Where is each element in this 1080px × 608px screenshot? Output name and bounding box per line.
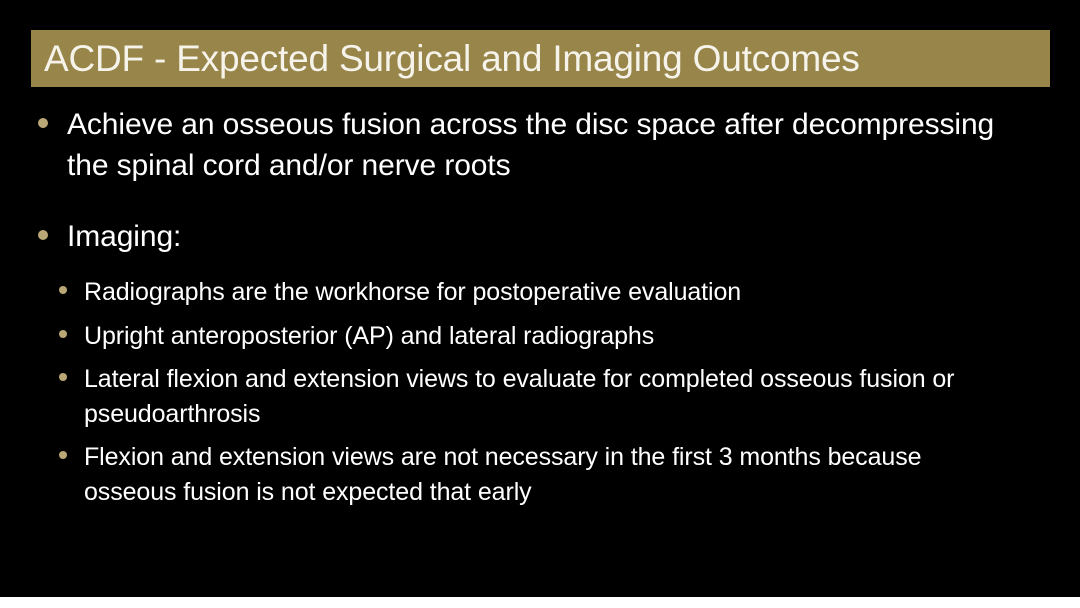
bullet-dot-icon — [38, 118, 48, 128]
bullet-text: Radiographs are the workhorse for postop… — [84, 278, 741, 306]
bullet-dot-icon — [59, 330, 67, 338]
bullet-item-level2: Lateral flexion and extension views to e… — [0, 362, 1080, 431]
presentation-slide: ACDF - Expected Surgical and Imaging Out… — [0, 0, 1080, 608]
bullet-text: Achieve an osseous fusion across the dis… — [67, 108, 994, 182]
bullet-item-level1: Achieve an osseous fusion across the dis… — [0, 104, 1080, 186]
slide-bottom-strip — [0, 597, 1080, 608]
bullet-text: Imaging: — [67, 220, 181, 253]
body-spacer — [0, 198, 1080, 216]
bullet-item-level1: Imaging: — [0, 216, 1080, 257]
bullet-dot-icon — [59, 286, 67, 294]
bullet-dot-icon — [59, 373, 67, 381]
bullet-item-level2: Flexion and extension views are not nece… — [0, 440, 1080, 509]
bullet-text: Lateral flexion and extension views to e… — [84, 365, 954, 428]
bullet-text: Flexion and extension views are not nece… — [84, 443, 921, 506]
bullet-dot-icon — [38, 230, 48, 240]
slide-body: Achieve an osseous fusion across the dis… — [0, 104, 1080, 518]
bullet-item-level2: Radiographs are the workhorse for postop… — [0, 275, 1080, 310]
bullet-text: Upright anteroposterior (AP) and lateral… — [84, 322, 654, 350]
bullet-dot-icon — [59, 451, 67, 459]
slide-title-banner: ACDF - Expected Surgical and Imaging Out… — [31, 30, 1050, 87]
bullet-item-level2: Upright anteroposterior (AP) and lateral… — [0, 319, 1080, 354]
page-title: ACDF - Expected Surgical and Imaging Out… — [44, 40, 860, 77]
